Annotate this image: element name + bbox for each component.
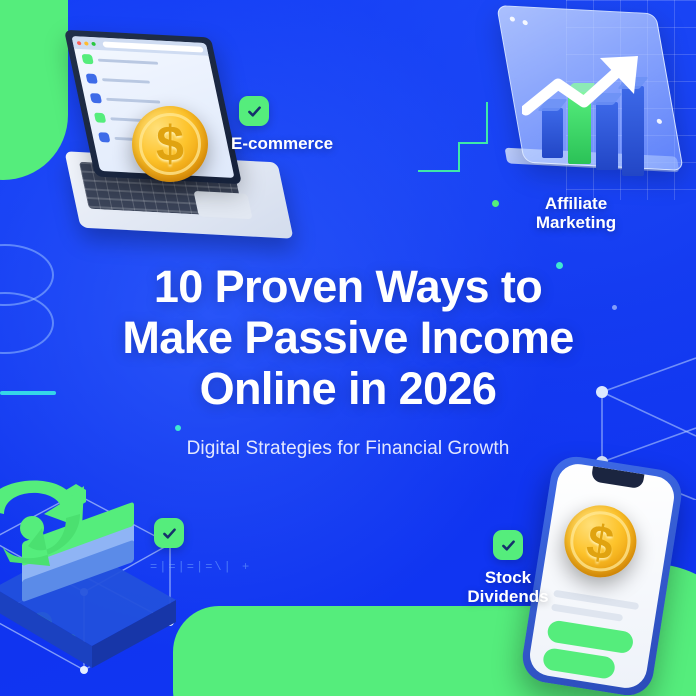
page-subtitle: Digital Strategies for Financial Growth	[0, 438, 696, 460]
title-line-2: Make Passive Income	[122, 312, 573, 363]
chip-stock-label: Stock Dividends	[420, 568, 596, 606]
chip-affiliate[interactable]: Affiliate Marketing	[488, 186, 664, 232]
title-line-3: Online in 2026	[200, 363, 497, 414]
chip-standalone-check[interactable]	[152, 518, 186, 548]
recycle-arrow-icon	[0, 470, 100, 578]
phone-cta-button-2[interactable]	[542, 647, 617, 680]
phone-text-line	[551, 604, 623, 622]
chip-ecommerce[interactable]: E-commerce	[205, 96, 390, 153]
laptop-dollar-coin: $	[132, 106, 208, 182]
chip-affiliate-label: Affiliate Marketing	[488, 194, 664, 232]
chip-stock-dividends[interactable]: Stock Dividends	[420, 530, 596, 606]
hero-text-block: 10 Proven Ways to Make Passive Income On…	[0, 262, 696, 460]
upward-trend-arrow-icon	[522, 54, 670, 126]
chart-panel-illustration	[508, 2, 686, 198]
page-title: 10 Proven Ways to Make Passive Income On…	[0, 262, 696, 415]
check-icon	[493, 530, 523, 560]
laptop-trackpad	[193, 191, 252, 219]
title-line-1: 10 Proven Ways to	[154, 261, 542, 312]
check-icon	[154, 518, 184, 548]
check-icon	[239, 96, 269, 126]
stair-step-decor	[418, 120, 492, 190]
chip-ecommerce-label: E-commerce	[231, 134, 390, 153]
poster-canvas: $	[0, 0, 696, 696]
micro-text-decor: =|=|=|=\| +	[150, 560, 251, 574]
cube-illustration	[0, 470, 250, 690]
